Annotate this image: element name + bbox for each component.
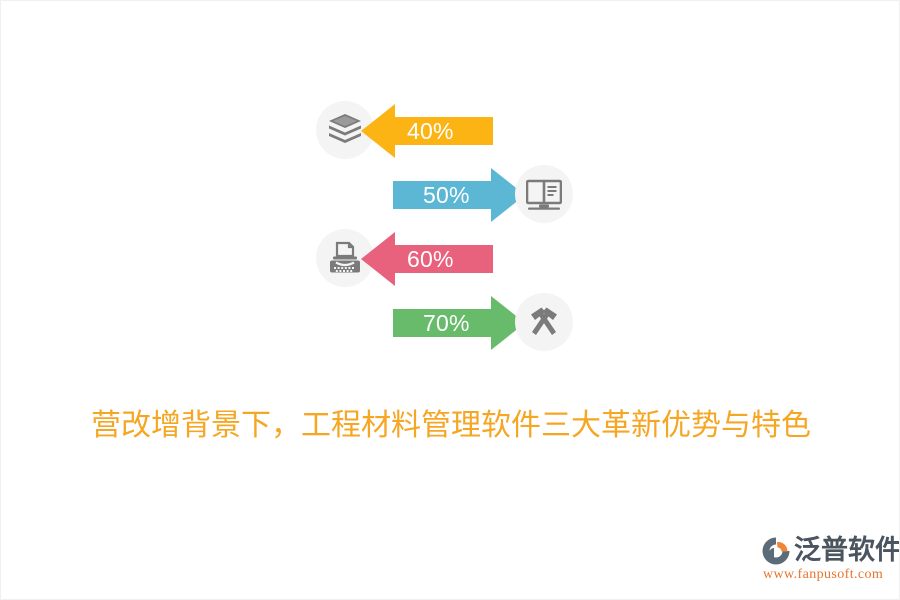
typewriter-icon <box>327 241 363 275</box>
brand-url: www.fanpusoft.com <box>763 566 883 584</box>
brand-name: 泛普软件 <box>794 536 900 566</box>
arrow-40-left: 40% <box>361 104 493 158</box>
chart-row-50: 50% <box>301 160 591 228</box>
arrow-label-70: 70% <box>423 296 470 350</box>
chart-row-70: 70% <box>301 288 591 356</box>
chart-row-60: 60% <box>301 224 591 292</box>
arrow-70-right: 70% <box>393 296 525 350</box>
brand-row: 泛普软件 <box>761 534 900 568</box>
open-book-icon-badge <box>515 165 573 223</box>
arrow-50-right: 50% <box>393 168 525 222</box>
tools-icon <box>526 304 562 340</box>
open-book-icon <box>526 178 562 210</box>
arrow-label-50: 50% <box>423 168 470 222</box>
percentage-arrow-chart: 40% 50% <box>301 96 591 361</box>
arrow-60-left: 60% <box>361 232 493 286</box>
books-icon <box>327 113 363 147</box>
brand-logo: 泛普软件 www.fanpusoft.com <box>761 534 893 592</box>
fanpu-logo-icon <box>761 536 791 566</box>
page-title: 营改增背景下，工程材料管理软件三大革新优势与特色 <box>1 403 900 449</box>
tools-icon-badge <box>515 293 573 351</box>
chart-row-40: 40% <box>301 96 591 164</box>
arrow-label-40: 40% <box>407 104 454 158</box>
arrow-label-60: 60% <box>407 232 454 286</box>
infographic-page: 40% 50% <box>0 0 900 600</box>
